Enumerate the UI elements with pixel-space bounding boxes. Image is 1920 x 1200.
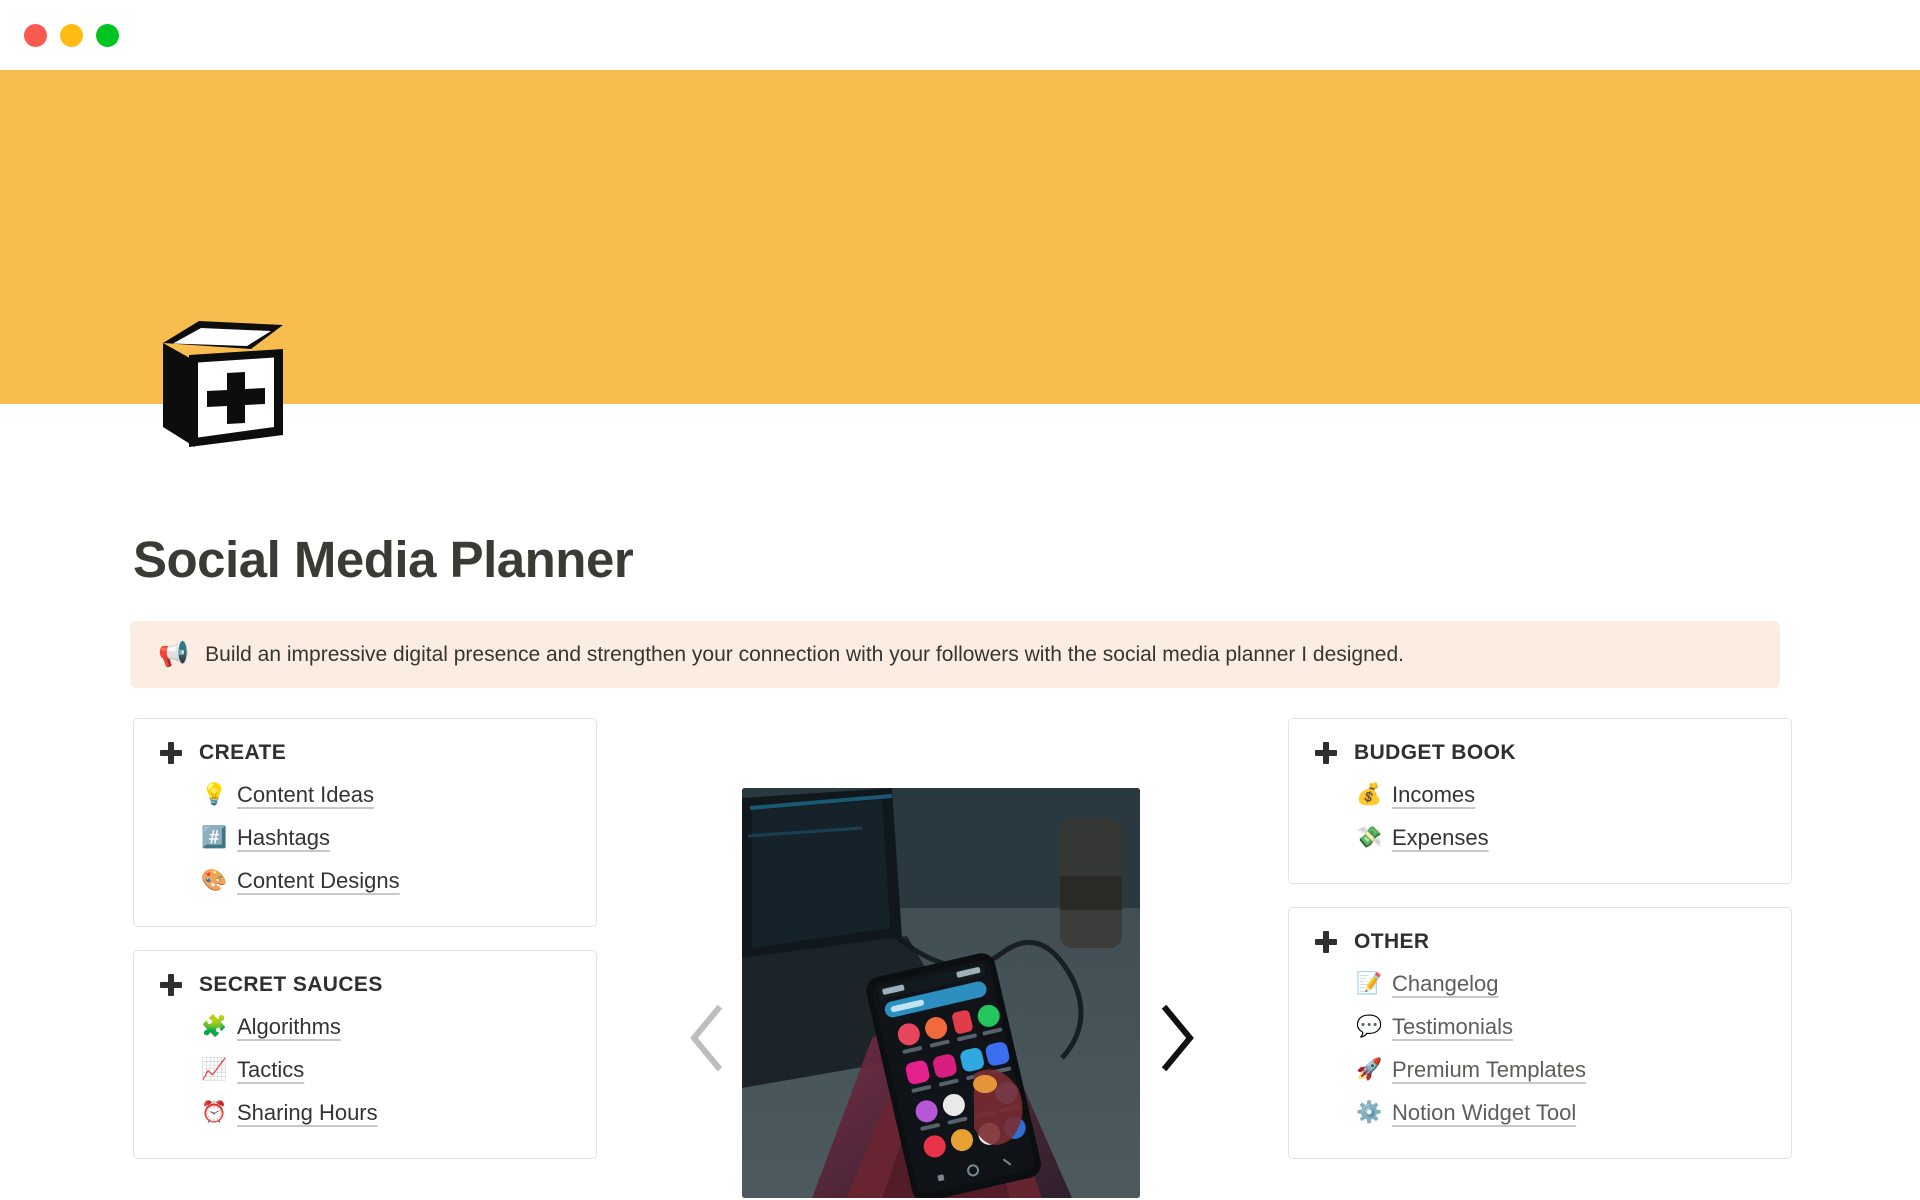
light-bulb-emoji: 💡 — [201, 784, 227, 805]
link-tactics[interactable]: Tactics — [237, 1057, 304, 1083]
link-hashtags[interactable]: Hashtags — [237, 825, 330, 851]
link-algorithms[interactable]: Algorithms — [237, 1014, 341, 1040]
list-item[interactable]: #️⃣ Hashtags — [201, 816, 570, 859]
memo-emoji: 📝 — [1356, 973, 1382, 994]
link-incomes[interactable]: Incomes — [1392, 782, 1475, 808]
carousel-photo[interactable] — [742, 788, 1140, 1198]
list-item[interactable]: 💰 Incomes — [1356, 773, 1765, 816]
card-budget-book-links: 💰 Incomes 💸 Expenses — [1315, 773, 1765, 859]
card-other-links: 📝 Changelog 💬 Testimonials 🚀 Premium Tem… — [1315, 962, 1765, 1134]
artist-palette-emoji: 🎨 — [201, 870, 227, 891]
card-secret-sauces-links: 🧩 Algorithms 📈 Tactics ⏰ Sharing Hours — [160, 1005, 570, 1134]
list-item[interactable]: ⏰ Sharing Hours — [201, 1091, 570, 1134]
link-expenses[interactable]: Expenses — [1392, 825, 1489, 851]
money-with-wings-emoji: 💸 — [1356, 827, 1382, 848]
card-budget-book-title: BUDGET BOOK — [1354, 741, 1516, 765]
megaphone-emoji: 📢 — [158, 642, 189, 667]
link-content-designs[interactable]: Content Designs — [237, 868, 400, 894]
link-notion-widget-tool[interactable]: Notion Widget Tool — [1392, 1100, 1576, 1126]
card-create: CREATE 💡 Content Ideas #️⃣ Hashtags 🎨 — [133, 718, 597, 927]
card-other: OTHER 📝 Changelog 💬 Testimonials 🚀 — [1288, 907, 1792, 1159]
list-item[interactable]: 💡 Content Ideas — [201, 773, 570, 816]
callout-text: Build an impressive digital presence and… — [205, 641, 1404, 669]
middle-column — [740, 718, 1180, 1198]
card-budget-book: BUDGET BOOK 💰 Incomes 💸 Expenses — [1288, 718, 1792, 884]
speech-balloon-emoji: 💬 — [1356, 1016, 1382, 1037]
card-secret-sauces: SECRET SAUCES 🧩 Algorithms 📈 Tactics ⏰ — [133, 950, 597, 1159]
plus-icon — [160, 742, 182, 764]
card-create-header[interactable]: CREATE — [160, 741, 570, 765]
window-maximize-button[interactable] — [96, 24, 119, 47]
card-secret-sauces-header[interactable]: SECRET SAUCES — [160, 973, 570, 997]
gear-emoji: ⚙️ — [1356, 1102, 1382, 1123]
image-carousel — [740, 718, 1180, 1198]
link-premium-templates[interactable]: Premium Templates — [1392, 1057, 1586, 1083]
chevron-left-icon[interactable] — [684, 1003, 730, 1073]
list-item[interactable]: 💸 Expenses — [1356, 816, 1765, 859]
list-item[interactable]: 💬 Testimonials — [1356, 1005, 1765, 1048]
columns-layout: CREATE 💡 Content Ideas #️⃣ Hashtags 🎨 — [0, 718, 1920, 1198]
right-column: BUDGET BOOK 💰 Incomes 💸 Expenses — [1288, 718, 1792, 1182]
link-changelog[interactable]: Changelog — [1392, 971, 1498, 997]
plus-icon — [160, 974, 182, 996]
app-window: Social Media Planner 📢 Build an impressi… — [0, 0, 1920, 1200]
left-column: CREATE 💡 Content Ideas #️⃣ Hashtags 🎨 — [133, 718, 597, 1182]
card-other-header[interactable]: OTHER — [1315, 930, 1765, 954]
plus-icon — [1315, 742, 1337, 764]
list-item[interactable]: 🚀 Premium Templates — [1356, 1048, 1765, 1091]
card-budget-book-header[interactable]: BUDGET BOOK — [1315, 741, 1765, 765]
window-minimize-button[interactable] — [60, 24, 83, 47]
rocket-emoji: 🚀 — [1356, 1059, 1382, 1080]
callout-banner[interactable]: 📢 Build an impressive digital presence a… — [130, 621, 1780, 688]
chevron-right-icon[interactable] — [1154, 1003, 1200, 1073]
window-titlebar — [0, 0, 1920, 70]
list-item[interactable]: ⚙️ Notion Widget Tool — [1356, 1091, 1765, 1134]
puzzle-piece-emoji: 🧩 — [201, 1016, 227, 1037]
chart-increasing-emoji: 📈 — [201, 1059, 227, 1080]
plus-cube-icon[interactable] — [155, 315, 292, 452]
link-content-ideas[interactable]: Content Ideas — [237, 782, 374, 808]
list-item[interactable]: 🎨 Content Designs — [201, 859, 570, 902]
list-item[interactable]: 📈 Tactics — [201, 1048, 570, 1091]
list-item[interactable]: 📝 Changelog — [1356, 962, 1765, 1005]
card-other-title: OTHER — [1354, 930, 1430, 954]
link-sharing-hours[interactable]: Sharing Hours — [237, 1100, 378, 1126]
card-secret-sauces-title: SECRET SAUCES — [199, 973, 383, 997]
window-close-button[interactable] — [24, 24, 47, 47]
card-create-links: 💡 Content Ideas #️⃣ Hashtags 🎨 Content D… — [160, 773, 570, 902]
page-title[interactable]: Social Media Planner — [133, 530, 633, 590]
money-bag-emoji: 💰 — [1356, 784, 1382, 805]
plus-icon — [1315, 931, 1337, 953]
alarm-clock-emoji: ⏰ — [201, 1102, 227, 1123]
list-item[interactable]: 🧩 Algorithms — [201, 1005, 570, 1048]
card-create-title: CREATE — [199, 741, 286, 765]
link-testimonials[interactable]: Testimonials — [1392, 1014, 1513, 1040]
hashtag-emoji: #️⃣ — [201, 827, 227, 848]
